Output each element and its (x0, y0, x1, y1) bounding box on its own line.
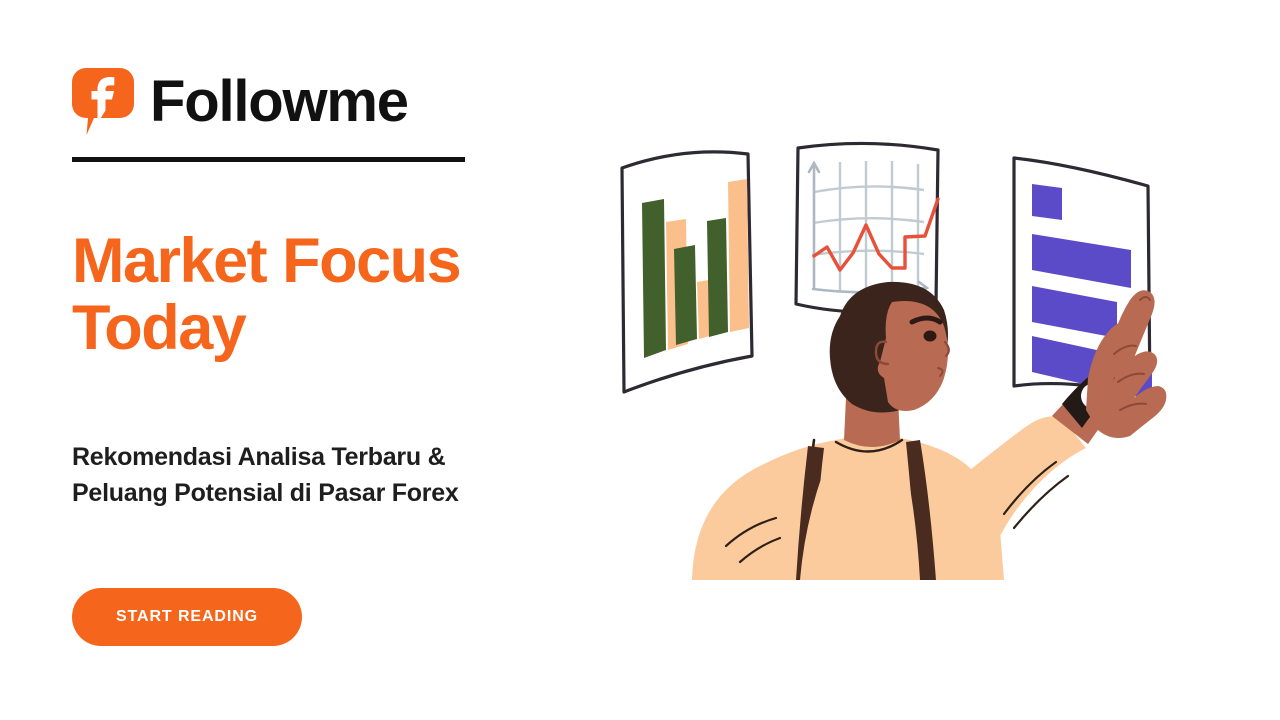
page-subtitle: Rekomendasi Analisa Terbaru & Peluang Po… (72, 440, 572, 511)
face (878, 301, 948, 411)
start-reading-button[interactable]: START READING (72, 588, 302, 646)
followme-logo-icon (72, 68, 134, 136)
content-column: Followme Market Focus Today Rekomendasi … (72, 0, 592, 720)
sleeve (970, 416, 1086, 540)
poster-canvas: Followme Market Focus Today Rekomendasi … (0, 0, 1280, 720)
brand-lockup: Followme (72, 68, 408, 136)
man-pointing-at-charts-illustration (600, 110, 1220, 610)
brand-wordmark: Followme (150, 73, 408, 131)
brand-divider (72, 157, 465, 162)
page-title: Market Focus Today (72, 228, 592, 363)
bar-chart-panel (622, 152, 752, 392)
